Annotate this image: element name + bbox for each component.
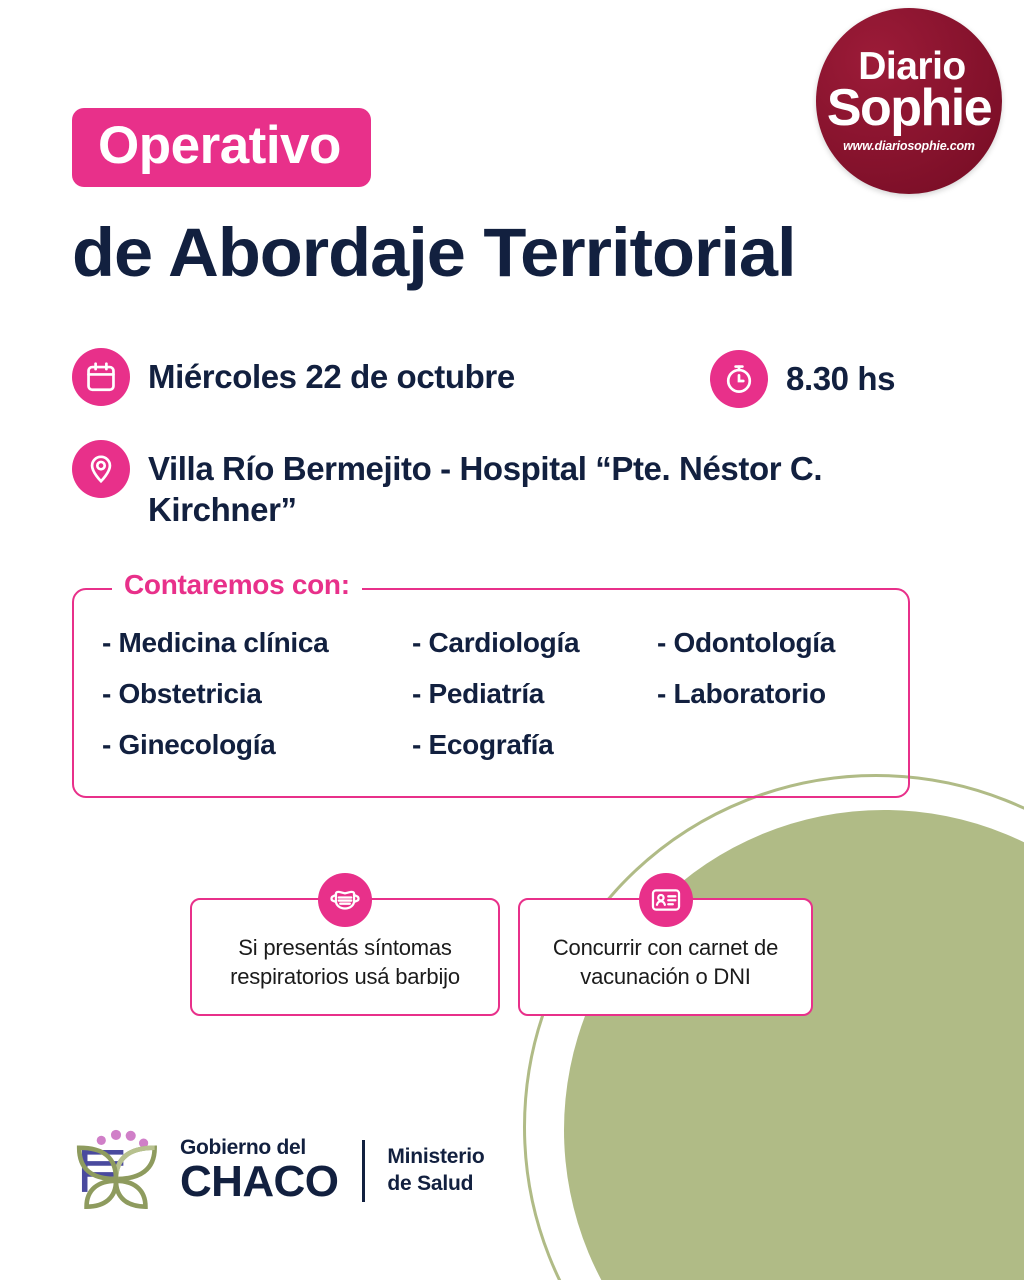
ministry-name: Ministerio de Salud bbox=[387, 1144, 484, 1197]
service-item: - Ginecología bbox=[102, 729, 412, 761]
services-column: - Cardiología - Pediatría - Ecografía bbox=[412, 627, 657, 780]
government-name: Gobierno del CHACO bbox=[180, 1137, 338, 1203]
services-column: - Medicina clínica - Obstetricia - Ginec… bbox=[102, 627, 412, 780]
footer-divider bbox=[362, 1140, 365, 1202]
poster-canvas: Diario Sophie www.diariosophie.com Opera… bbox=[0, 0, 1024, 1280]
clock-icon bbox=[710, 350, 768, 408]
services-columns: - Medicina clínica - Obstetricia - Ginec… bbox=[74, 590, 908, 780]
government-name-main: CHACO bbox=[180, 1160, 338, 1204]
service-item: - Odontología bbox=[657, 627, 907, 659]
notice-card-id: Concurrir con carnet de vacunación o DNI bbox=[518, 898, 813, 1016]
brand-name-main: Sophie bbox=[827, 86, 991, 131]
notices-group: Si presentás síntomas respiratorios usá … bbox=[190, 898, 813, 1016]
services-panel: Contaremos con: - Medicina clínica - Obs… bbox=[72, 588, 910, 798]
notice-text: Concurrir con carnet de vacunación o DNI bbox=[553, 935, 778, 989]
services-column: - Odontología - Laboratorio bbox=[657, 627, 907, 780]
service-item: - Cardiología bbox=[412, 627, 657, 659]
footer-branding: Gobierno del CHACO Ministerio de Salud bbox=[70, 1122, 485, 1219]
id-card-icon bbox=[639, 873, 693, 927]
diario-sophie-logo[interactable]: Diario Sophie www.diariosophie.com bbox=[816, 8, 1002, 194]
location-pin-icon bbox=[72, 440, 130, 498]
ministry-line-1: Ministerio bbox=[387, 1144, 484, 1170]
event-date: Miércoles 22 de octubre bbox=[148, 348, 515, 397]
event-location: Villa Río Bermejito - Hospital “Pte. Nés… bbox=[148, 440, 938, 531]
notice-text: Si presentás síntomas respiratorios usá … bbox=[230, 935, 460, 989]
service-item: - Ecografía bbox=[412, 729, 657, 761]
service-item: - Medicina clínica bbox=[102, 627, 412, 659]
service-item: - Pediatría bbox=[412, 678, 657, 710]
event-time: 8.30 hs bbox=[786, 350, 895, 399]
ministry-line-2: de Salud bbox=[387, 1171, 484, 1197]
calendar-icon bbox=[72, 348, 130, 406]
chaco-leaves-emblem bbox=[70, 1122, 162, 1219]
location-row: Villa Río Bermejito - Hospital “Pte. Nés… bbox=[72, 440, 938, 531]
services-legend: Contaremos con: bbox=[112, 571, 362, 599]
brand-website-url: www.diariosophie.com bbox=[843, 139, 975, 153]
kicker-badge: Operativo bbox=[72, 108, 371, 187]
time-row: 8.30 hs bbox=[710, 350, 895, 408]
service-item: - Laboratorio bbox=[657, 678, 907, 710]
notice-card-mask: Si presentás síntomas respiratorios usá … bbox=[190, 898, 500, 1016]
face-mask-icon bbox=[318, 873, 372, 927]
date-row: Miércoles 22 de octubre bbox=[72, 348, 515, 406]
service-item: - Obstetricia bbox=[102, 678, 412, 710]
page-title: de Abordaje Territorial bbox=[72, 218, 796, 287]
